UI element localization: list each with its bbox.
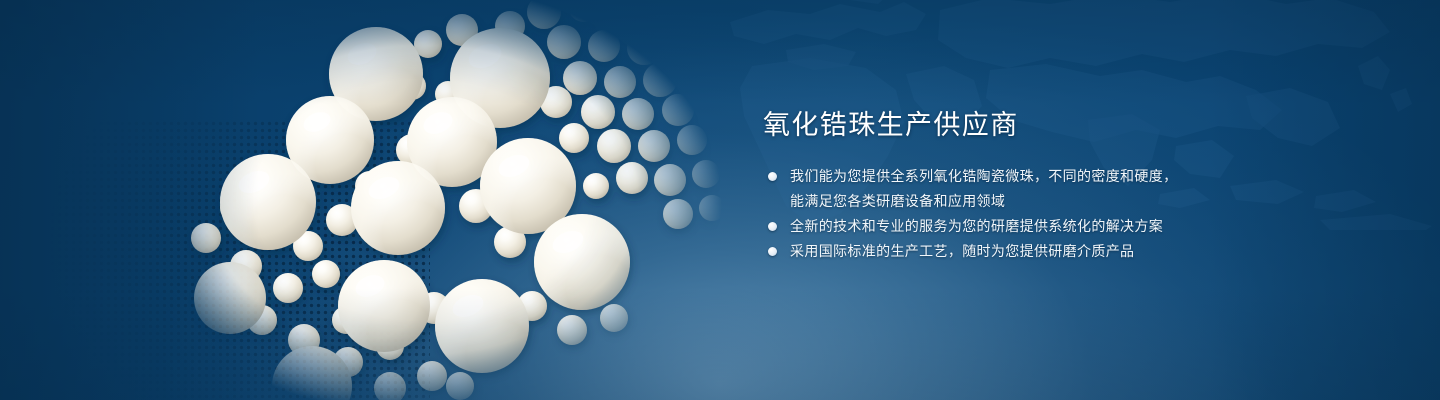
hero-banner: 氧化锆珠生产供应商 我们能为您提供全系列氧化锆陶瓷微珠，不同的密度和硬度， 能满… [0, 0, 1440, 400]
banner-vignette-overlay [0, 0, 1440, 400]
